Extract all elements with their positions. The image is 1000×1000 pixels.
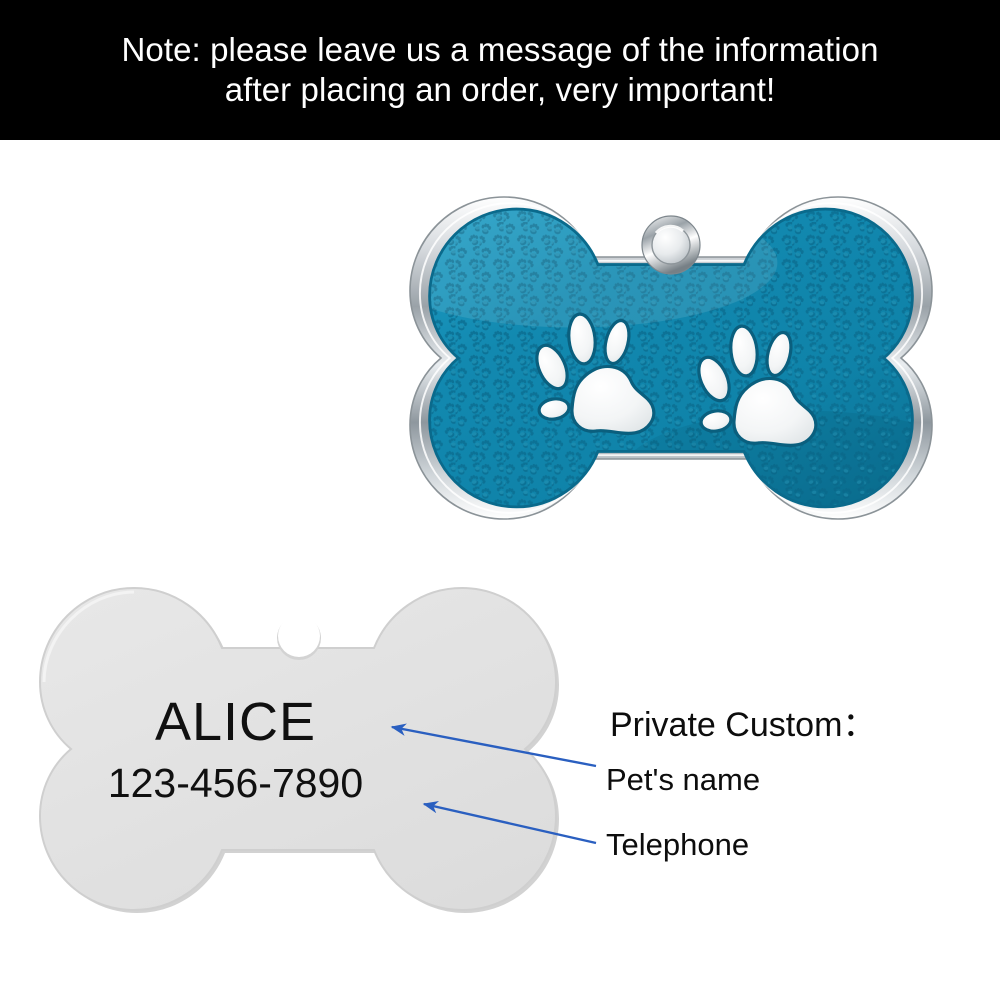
blue-bone-pet-id-tag (386, 185, 956, 535)
gray-tag-illustration (18, 578, 578, 928)
blue-tag-illustration (386, 185, 956, 535)
callout-label-pet-name: Pet's name (606, 762, 760, 798)
tag-hole-grommet (642, 216, 700, 274)
callout-title: Private Custom： (610, 697, 876, 746)
callout-label-telephone: Telephone (606, 827, 749, 863)
order-note-banner: Note: please leave us a message of the i… (0, 0, 1000, 140)
note-line-1: Note: please leave us a message of the i… (121, 30, 878, 70)
note-line-2: after placing an order, very important! (225, 70, 776, 110)
gray-tag-hole (277, 615, 321, 660)
gray-bone-pet-id-tag (18, 578, 578, 928)
